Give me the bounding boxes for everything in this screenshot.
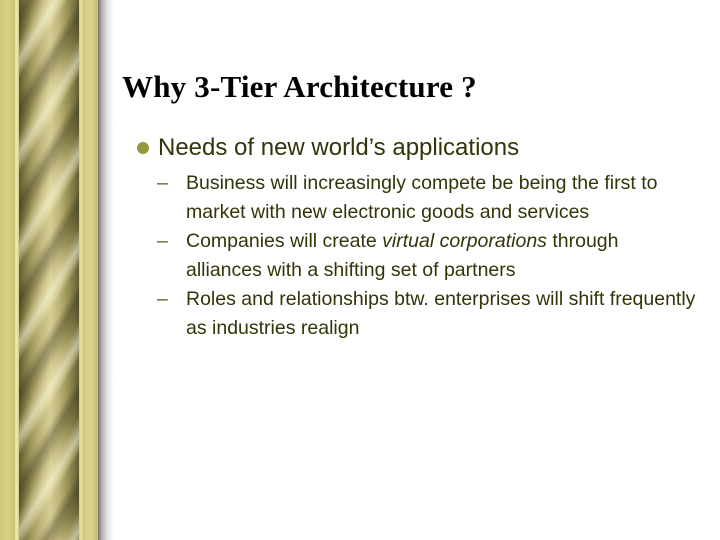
bullet-level2: – Business will increasingly compete be … (136, 169, 696, 227)
dash-bullet-icon: – (157, 285, 168, 314)
bullet-level2: – Roles and relationships btw. enterpris… (136, 285, 696, 343)
slide-canvas: Why 3-Tier Architecture ? Needs of new w… (0, 0, 720, 540)
ornament-outer-band (0, 0, 15, 540)
bullet-level2-emphasis: virtual corporations (382, 230, 547, 252)
slide-title: Why 3-Tier Architecture ? (122, 68, 682, 106)
dash-bullet-icon: – (157, 169, 168, 198)
bullet-level2-text-part: Companies will create (186, 230, 382, 252)
bullet-level2-label: Roles and relationships btw. enterprises… (186, 288, 695, 339)
ornament-rope-column (19, 0, 79, 540)
bullet-level1-label: Needs of new world’s applications (158, 134, 519, 161)
bullet-level2: – Companies will create virtual corporat… (136, 227, 696, 285)
bullet-level2-label: Companies will create virtual corporatio… (186, 230, 618, 281)
filled-circle-bullet-icon (137, 142, 149, 154)
bullet-level2-label: Business will increasingly compete be be… (186, 172, 658, 223)
bullet-sublist: – Business will increasingly compete be … (136, 169, 696, 343)
left-ornament-rope-column (0, 0, 119, 540)
slide-body: Needs of new world’s applications – Busi… (136, 131, 696, 343)
bullet-level2-text-part: Business will increasingly compete be be… (186, 172, 658, 223)
bullet-level1: Needs of new world’s applications (136, 131, 696, 164)
ornament-rope-twist-pattern (19, 0, 79, 540)
bullet-level2-text-part: Roles and relationships btw. enterprises… (186, 288, 695, 339)
dash-bullet-icon: – (157, 227, 168, 256)
ornament-inner-band (84, 0, 98, 540)
ornament-drop-shadow (98, 0, 119, 540)
